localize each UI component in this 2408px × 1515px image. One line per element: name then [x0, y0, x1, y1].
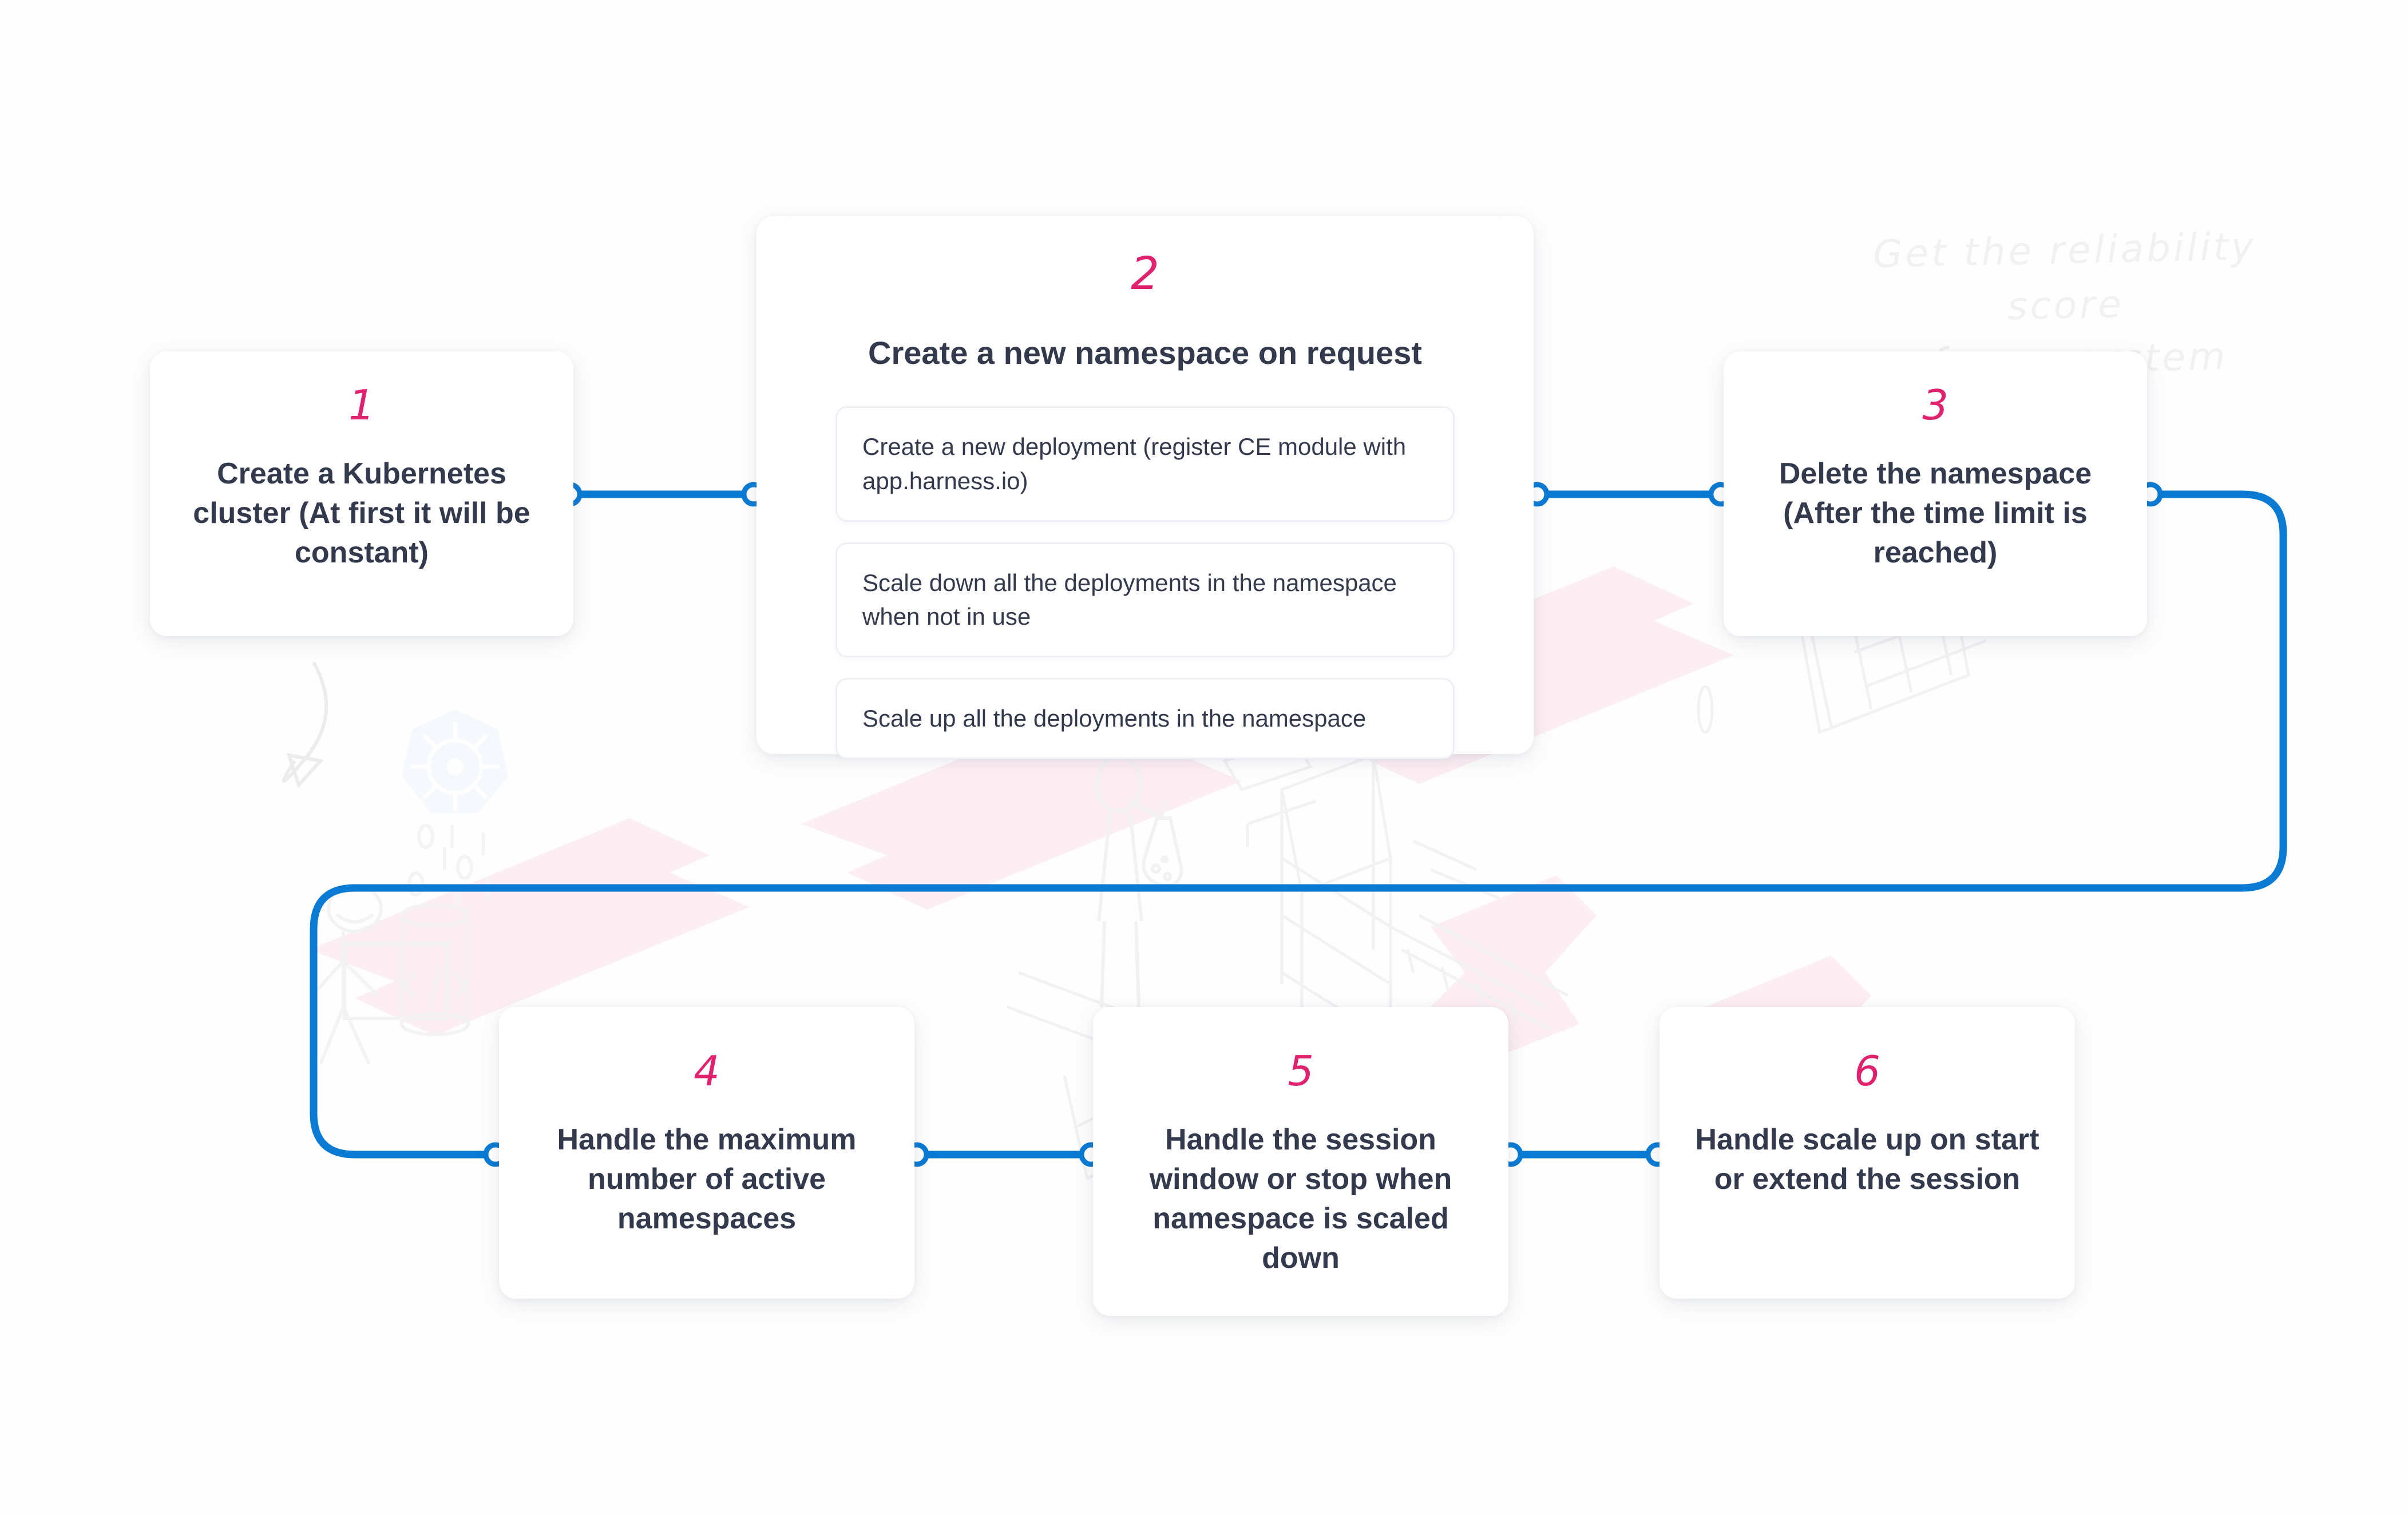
card-number-1: 1 [348, 384, 375, 426]
card-title-3: Delete the namespace (After the time lim… [1750, 454, 2121, 573]
card-number-5: 5 [1288, 1050, 1314, 1092]
sub-item[interactable]: Scale up all the deployments in the name… [835, 678, 1455, 759]
flow-card-4[interactable]: 4 Handle the maximum number of active na… [499, 1007, 914, 1299]
card-number-4: 4 [694, 1050, 720, 1092]
card-title-5: Handle the session window or stop when n… [1119, 1120, 1482, 1279]
sub-item[interactable]: Scale down all the deployments in the na… [835, 542, 1455, 657]
card-2-sub-item-list: Create a new deployment (register CE mod… [835, 406, 1455, 759]
card-title-1: Create a Kubernetes cluster (At first it… [176, 454, 547, 573]
flow-card-5[interactable]: 5 Handle the session window or stop when… [1093, 1007, 1508, 1316]
flow-card-6[interactable]: 6 Handle scale up on start or extend the… [1660, 1007, 2075, 1299]
diagram-canvas: Get the reliability score of your system… [0, 0, 2408, 1515]
card-number-6: 6 [1854, 1050, 1880, 1092]
card-title-2: Create a new namespace on request [868, 332, 1422, 374]
flow-card-1[interactable]: 1 Create a Kubernetes cluster (At first … [150, 351, 573, 636]
flow-card-2[interactable]: 2 Create a new namespace on request Crea… [757, 216, 1534, 754]
card-number-2: 2 [1131, 252, 1159, 296]
card-number-3: 3 [1922, 384, 1948, 426]
flow-card-3[interactable]: 3 Delete the namespace (After the time l… [1724, 351, 2147, 636]
card-title-6: Handle scale up on start or extend the s… [1686, 1120, 2049, 1199]
sub-item[interactable]: Create a new deployment (register CE mod… [835, 406, 1455, 521]
card-title-4: Handle the maximum number of active name… [525, 1120, 888, 1239]
